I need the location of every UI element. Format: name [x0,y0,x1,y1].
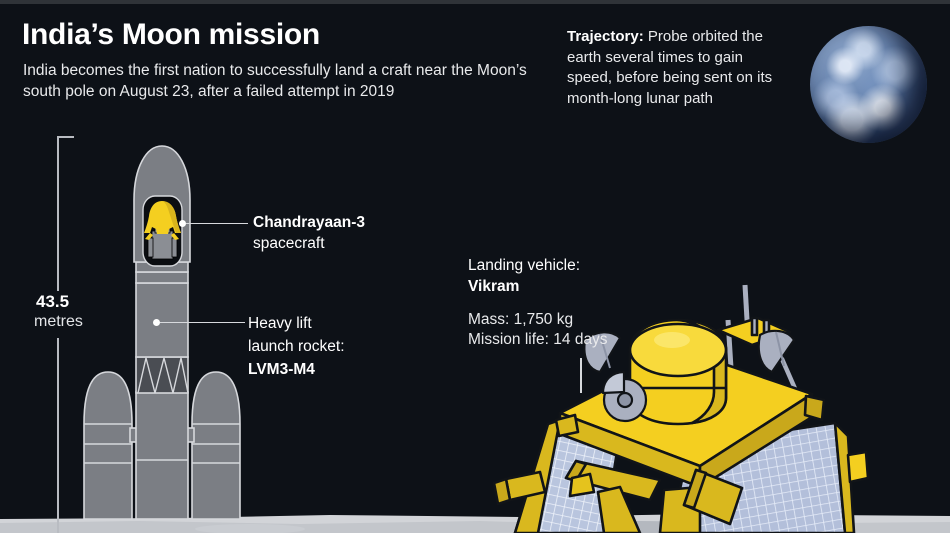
annotation-lander-life: Mission life: 14 days [468,331,608,348]
scale-value: 43.5 [36,292,69,312]
page-subtitle: India becomes the first nation to succes… [23,60,543,102]
annotation-rocket-line2: launch rocket: [248,338,345,355]
annotation-spacecraft: Chandrayaan-3 spacecraft [253,212,453,254]
page-title: India’s Moon mission [22,18,320,52]
leader-dot-spacecraft [179,220,186,227]
annotation-rocket-model: LVM3-M4 [248,361,315,378]
leader-line-spacecraft [186,223,248,224]
leader-dot-rocket [153,319,160,326]
annotation-rocket: Heavy lift launch rocket: LVM3-M4 [248,312,438,381]
trajectory-label: Trajectory: [567,28,644,45]
leader-line-rocket [160,322,245,323]
annotation-spacecraft-kind: spacecraft [253,235,325,252]
annotation-spacecraft-name: Chandrayaan-3 [253,214,365,231]
annotation-lander-mass: Mass: 1,750 kg [468,311,573,328]
scale-unit: metres [34,313,83,331]
annotation-rocket-line1: Heavy lift [248,315,312,332]
annotation-lander-name: Vikram [468,278,519,295]
trajectory-note: Trajectory: Probe orbited the earth seve… [567,27,789,109]
annotation-lander-specs: Mass: 1,750 kg Mission life: 14 days [468,310,698,350]
scale-bar-lower [57,338,59,533]
leader-line-lander [580,358,582,393]
earth-globe [810,26,927,143]
infographic-root: India’s Moon mission India becomes the f… [0,0,950,533]
annotation-lander: Landing vehicle: Vikram [468,255,698,297]
scale-bar-tick [57,136,74,138]
annotation-lander-label: Landing vehicle: [468,257,580,274]
scale-bar-upper [57,136,59,291]
